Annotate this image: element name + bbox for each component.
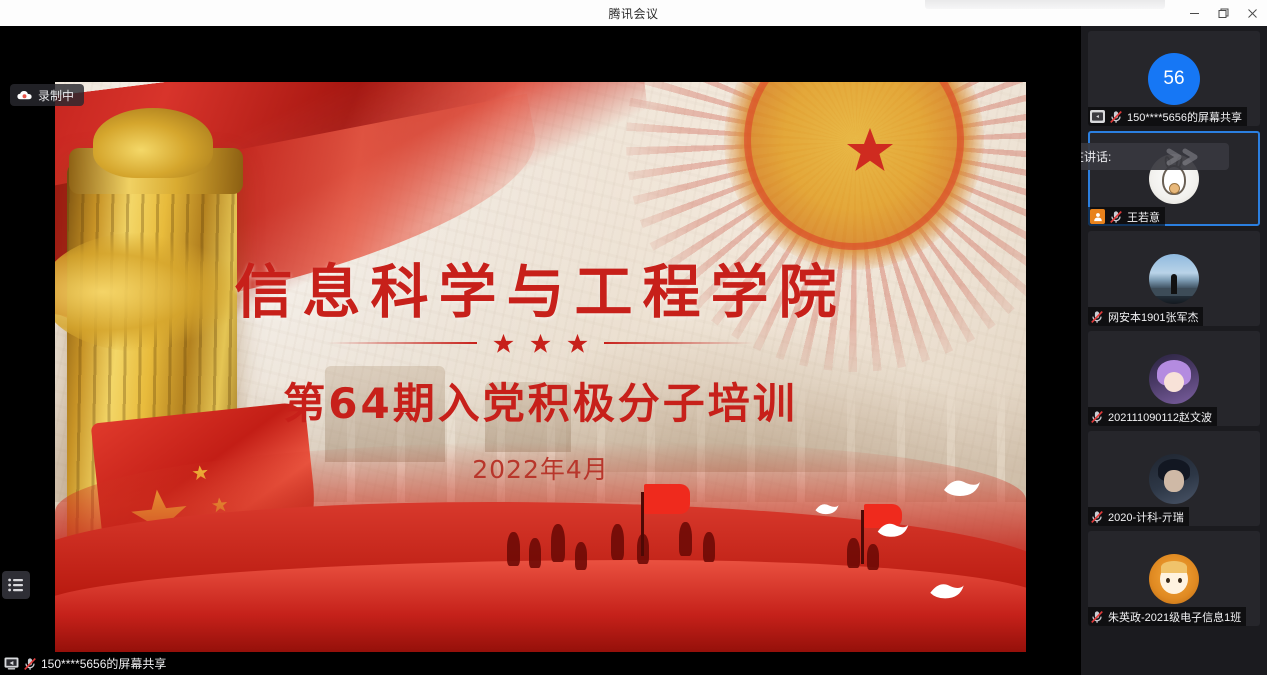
close-button[interactable] (1238, 0, 1267, 26)
shared-screen-stage: 信息科学与工程学院 第64期入党积极分子培训 2022年4月 (0, 26, 1081, 675)
speaking-tooltip: 正在讲话: (1081, 143, 1229, 170)
divider-rule-right (604, 342, 754, 344)
participant-tile[interactable]: 56 150****5656的屏幕共享 (1088, 31, 1260, 126)
participant-namebar: 150****5656的屏幕共享 (1088, 107, 1247, 126)
divider-star-icon (530, 333, 551, 354)
participant-name: 150****5656的屏幕共享 (1127, 109, 1242, 125)
minimize-button[interactable] (1180, 0, 1209, 26)
mic-off-icon (1109, 210, 1123, 224)
window-controls (1180, 0, 1267, 26)
mic-off-icon (1109, 110, 1123, 124)
divider-rule-left (327, 342, 477, 344)
avatar-image (1149, 254, 1199, 304)
avatar-image (1149, 354, 1199, 404)
participant-tile[interactable]: 网安本1901张军杰 (1088, 231, 1260, 326)
screen-share-icon (4, 657, 19, 670)
avatar-image (1149, 454, 1199, 504)
mic-off-icon (23, 657, 37, 671)
divider-star-icon (493, 333, 514, 354)
dove-icon (814, 500, 840, 518)
participant-list-button[interactable] (2, 571, 30, 599)
participant-name: 朱英政-2021级电子信息1班 (1108, 609, 1241, 625)
slide-title: 信息科学与工程学院 (55, 245, 1026, 329)
meeting-window: 腾讯会议 (0, 0, 1267, 675)
title-bar: 腾讯会议 (0, 0, 1267, 26)
background-tab-strip (925, 0, 1165, 9)
host-badge (1090, 209, 1105, 224)
figure-silhouette (551, 524, 565, 562)
share-status-bar: 150****5656的屏幕共享 (0, 652, 1081, 675)
list-icon (8, 578, 24, 592)
column-beast-sculpture (93, 108, 213, 178)
figure-silhouette (611, 524, 624, 560)
figure-silhouette (703, 532, 715, 562)
mic-off-icon (1090, 410, 1104, 424)
recording-indicator: 录制中 (10, 84, 84, 106)
figure-silhouette (575, 542, 587, 570)
figure-silhouette (847, 538, 860, 568)
figure-silhouette (679, 522, 692, 556)
participant-name: 202111090112赵文波 (1108, 409, 1212, 425)
screen-share-icon (1090, 110, 1105, 123)
slide-date: 2022年4月 (55, 450, 1026, 486)
maximize-restore-button[interactable] (1209, 0, 1238, 26)
slide-star-divider (55, 330, 1026, 356)
avatar-initials: 56 (1148, 53, 1200, 105)
participant-namebar: 网安本1901张军杰 (1088, 307, 1203, 326)
speaking-label: 正在讲话: (1081, 148, 1111, 165)
figure-silhouette (529, 538, 541, 568)
participant-namebar: 202111090112赵文波 (1088, 407, 1217, 426)
shared-content-area: 信息科学与工程学院 第64期入党积极分子培训 2022年4月 (0, 26, 1081, 652)
sun-star-icon (846, 126, 894, 174)
participant-rail[interactable]: 56 150****5656的屏幕共享 (1081, 26, 1267, 675)
participant-name: 2020-计科-亓瑞 (1108, 509, 1184, 525)
participant-tile[interactable]: 202111090112赵文波 (1088, 331, 1260, 426)
participant-namebar: 2020-计科-亓瑞 (1088, 507, 1189, 526)
recording-label: 录制中 (38, 87, 74, 104)
mic-off-icon (1090, 610, 1104, 624)
slide-subtitle: 第64期入党积极分子培训 (55, 370, 1026, 431)
figure-silhouette (507, 532, 520, 566)
participant-name: 王若意 (1127, 209, 1160, 225)
participant-tile[interactable]: 朱英政-2021级电子信息1班 (1088, 531, 1260, 626)
mic-off-icon (1090, 310, 1104, 324)
participant-namebar: 王若意 (1088, 207, 1165, 226)
participant-namebar: 朱英政-2021级电子信息1班 (1088, 607, 1246, 626)
presentation-slide: 信息科学与工程学院 第64期入党积极分子培训 2022年4月 (55, 82, 1026, 652)
participant-name: 网安本1901张军杰 (1108, 309, 1198, 325)
participant-tile[interactable]: 2020-计科-亓瑞 (1088, 431, 1260, 526)
mic-off-icon (1090, 510, 1104, 524)
chevron-right-icon (1165, 147, 1217, 167)
share-status-label: 150****5656的屏幕共享 (41, 655, 166, 672)
small-red-flag (644, 484, 690, 514)
avatar-image (1149, 554, 1199, 604)
window-title: 腾讯会议 (608, 5, 658, 22)
dove-icon (928, 578, 966, 604)
divider-star-icon (567, 333, 588, 354)
cloud-record-icon (17, 90, 32, 101)
figure-silhouette (867, 544, 879, 570)
dove-icon (876, 518, 910, 542)
